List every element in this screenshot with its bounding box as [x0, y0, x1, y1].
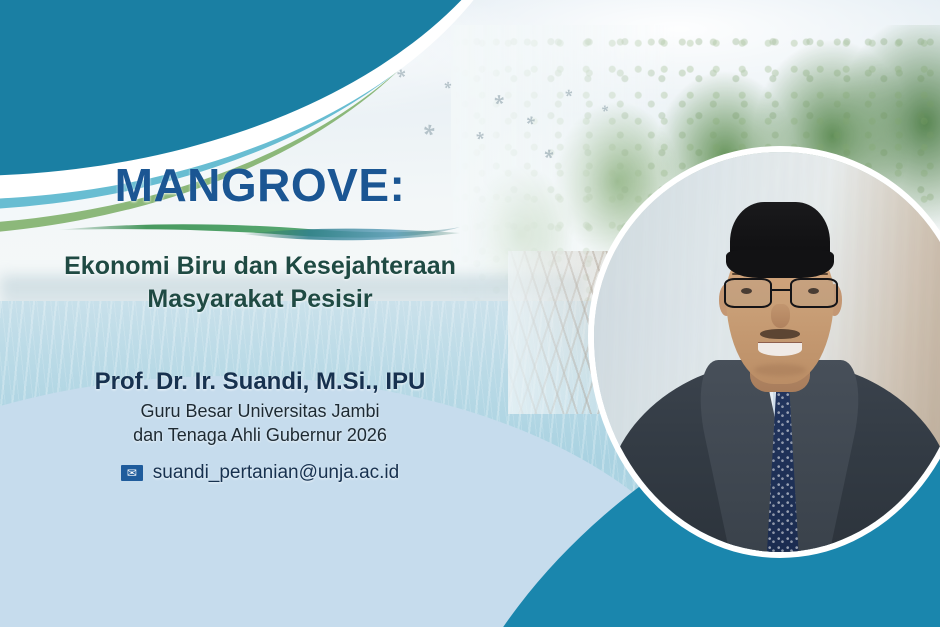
peci-cap [730, 202, 830, 264]
title-divider [58, 218, 460, 244]
mouth [758, 342, 803, 356]
glasses-lens-right [790, 278, 838, 308]
speaker-portrait [594, 152, 940, 552]
portrait-image [594, 152, 940, 552]
bird-icon: 🞲 [565, 88, 573, 99]
slide-title: MANGROVE: [0, 158, 520, 212]
slide-subtitle: Ekonomi Biru dan Kesejahteraan Masyaraka… [0, 250, 520, 315]
nose [771, 304, 790, 328]
envelope-icon: ✉ [121, 465, 143, 481]
speaker-role-line-2: dan Tenaga Ahli Gubernur 2026 [0, 424, 520, 448]
speaker-name: Prof. Dr. Ir. Suandi, M.Si., IPU [0, 368, 520, 396]
presentation-slide: 🞲 🞲 🞲 🞲 🞲 🞲 🞲 🞲 🞲 [0, 0, 940, 627]
chin-shadow [754, 364, 806, 376]
subtitle-line-1: Ekonomi Biru dan Kesejahteraan [0, 250, 520, 283]
moustache [760, 329, 801, 339]
contact-email-text[interactable]: suandi_pertanian@unja.ac.id [153, 462, 399, 484]
subtitle-line-2: Masyarakat Pesisir [0, 283, 520, 316]
contact-email-row[interactable]: ✉ suandi_pertanian@unja.ac.id [0, 462, 520, 484]
text-content: MANGROVE: [0, 0, 560, 627]
bird-icon: 🞲 [602, 105, 611, 116]
speaker-role-line-1: Guru Besar Universitas Jambi [0, 400, 520, 424]
glasses-bridge [772, 289, 790, 291]
glasses-lens-left [724, 278, 772, 308]
divider-swoosh-icon [58, 218, 460, 244]
speaker-role: Guru Besar Universitas Jambi dan Tenaga … [0, 400, 520, 448]
